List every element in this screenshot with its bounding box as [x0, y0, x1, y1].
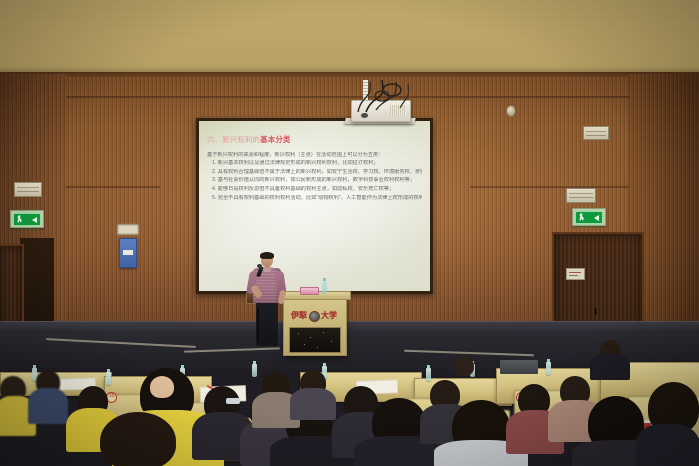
exit-arrow-icon [32, 217, 37, 223]
audience-head [454, 356, 474, 376]
water-bottle [546, 362, 551, 375]
audience-shoulders [28, 388, 68, 424]
running-man-icon [17, 215, 22, 223]
projector-cables [352, 74, 418, 114]
slide-line: 基于新兴权利的来源和程度，新兴权利（主张）在活动范围上可以分为五类： [207, 152, 422, 158]
audience-head [100, 412, 176, 466]
laptop[interactable] [500, 360, 538, 374]
door-handle[interactable] [594, 308, 597, 315]
slide-content: 六、新兴权利的基本分类 基于新兴权利的来源和程度，新兴权利（主张）在活动范围上可… [207, 135, 422, 251]
speaker-legs [256, 302, 278, 346]
slide-line: 1. 新兴基本权利以及通过法律规定形成的新兴权利权利，比如征订权利； [207, 160, 422, 166]
presenter-speaker [247, 253, 287, 345]
podium-university-name: 伊犁 大学 [288, 310, 340, 322]
lecture-hall-photo: 六、新兴权利的基本分类 基于新兴权利的来源和程度，新兴权利（主张）在活动范围上可… [0, 0, 699, 466]
wall-control-panel [566, 188, 596, 203]
audience-head [150, 376, 174, 398]
emergency-exit-sign-left [10, 210, 44, 228]
wall-notice-blue [119, 238, 137, 268]
speaker-right-forearm [278, 290, 287, 305]
slide-line: 4. 能够日是权利反思但不具备权利基础的权利主张，如隐私权、安乐死亡权等； [207, 186, 422, 192]
pink-book-on-podium [300, 287, 319, 295]
projection-screen: 六、新兴权利的基本分类 基于新兴权利的来源和程度，新兴权利（主张）在活动范围上可… [196, 118, 433, 294]
exit-sign-glow [576, 212, 602, 223]
lectern-front-panel [289, 327, 341, 353]
door-notice [566, 268, 585, 280]
water-bottle [426, 368, 431, 381]
audience-shoulders [636, 424, 699, 466]
slide-line: 3. 基与社会价值认同的新兴权利，如公民新形成的新兴权利，数字科技事业权利权利等… [207, 177, 422, 183]
audience-shoulders [590, 354, 630, 380]
slide-line: 5. 完全不具有权利基础的权利权利活动，比如"动物权利"、人工智能作为法律上权形… [207, 195, 422, 201]
slide-title: 六、新兴权利的基本分类 [207, 135, 422, 144]
wall-notice-small [117, 224, 139, 235]
water-bottle [252, 364, 257, 377]
wall-speaker-icon [506, 105, 516, 117]
speaker-hair [260, 252, 274, 259]
audience-shoulders [290, 388, 336, 420]
water-bottle-on-podium [322, 281, 327, 294]
ceiling [0, 0, 699, 74]
exit-sign-glow [14, 214, 40, 225]
speaker-leg-gap [257, 308, 259, 342]
emergency-exit-sign-right [572, 208, 606, 226]
water-bottle [106, 372, 111, 385]
exit-arrow-icon [594, 215, 599, 221]
slide-line: 2. 具有权利合理基础但不属于法律上的新兴权利，如安宁生活权、学习权、环境服务权… [207, 169, 422, 175]
running-man-icon [579, 213, 584, 221]
face-mask [226, 398, 240, 404]
wall-control-panel [583, 126, 609, 140]
microphone-head [257, 264, 262, 268]
university-emblem-icon [309, 311, 320, 322]
wall-control-panel [14, 182, 42, 197]
